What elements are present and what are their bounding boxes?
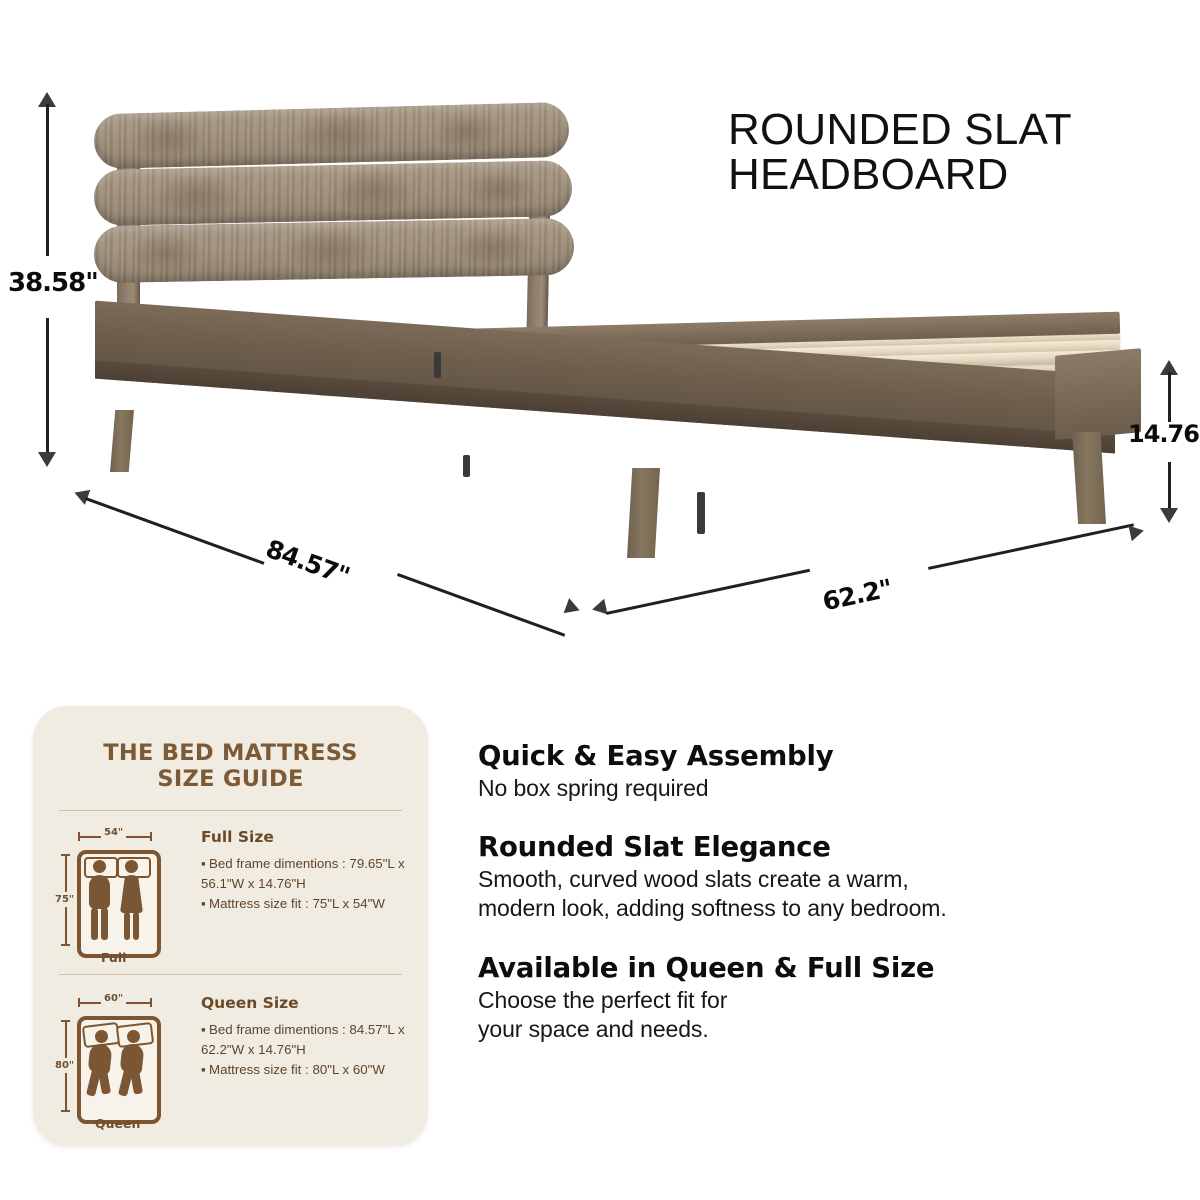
feature-body-line: No box spring required [478, 774, 1138, 803]
feature-body-line: modern look, adding softness to any bedr… [478, 894, 1138, 923]
queen-detail-line-1: Bed frame dimentions : 84.57"L x [209, 1022, 405, 1037]
feature-body: Smooth, curved wood slats create a warm,… [478, 865, 1138, 923]
headboard-slat-2 [93, 160, 572, 226]
feature-available-sizes: Available in Queen & Full Size Choose th… [478, 952, 1138, 1044]
size-guide-title-line-1: THE BED MATTRESS [33, 740, 428, 766]
headboard-slat-3 [94, 218, 575, 283]
full-detail-line-1: Bed frame dimentions : 79.65"L x [209, 856, 405, 871]
feature-body: Choose the perfect fit for your space an… [478, 986, 1138, 1044]
feature-rounded-slat-elegance: Rounded Slat Elegance Smooth, curved woo… [478, 831, 1138, 923]
bed-leg-head-left [110, 410, 134, 472]
size-guide-title: THE BED MATTRESS SIZE GUIDE [33, 740, 428, 792]
bed-leg-front-center [627, 468, 660, 558]
size-guide-divider-top [59, 810, 402, 811]
bed-support-leg-center [434, 352, 441, 378]
queen-height-label: 80" [55, 1058, 74, 1073]
full-detail-line-3: Mattress size fit : 75"L x 54"W [209, 896, 385, 911]
size-guide-row-full: 54" 75" [33, 818, 428, 968]
size-guide-row-queen: 60" 80" Queen Que [33, 984, 428, 1134]
queen-caption: Queen [95, 1116, 140, 1131]
mattress-size-guide-card: THE BED MATTRESS SIZE GUIDE 54" 75" [33, 706, 428, 1146]
headboard-slat-1 [93, 102, 569, 169]
full-size-name: Full Size [201, 828, 274, 846]
full-size-details: ▪Bed frame dimentions : 79.65"L x 56.1"W… [201, 854, 417, 914]
feature-quick-easy-assembly: Quick & Easy Assembly No box spring requ… [478, 740, 1138, 803]
feature-body-line: Smooth, curved wood slats create a warm, [478, 865, 1138, 894]
feature-title: Available in Queen & Full Size [478, 952, 1138, 984]
bed-support-leg-mid [463, 455, 470, 477]
full-caption: Full [101, 950, 126, 965]
bed-illustration [0, 0, 1200, 660]
infographic-canvas: ROUNDED SLAT HEADBOARD [0, 0, 1200, 1200]
queen-mattress-icon: 60" 80" Queen [51, 990, 171, 1130]
queen-detail-line-2: 62.2"W x 14.76"H [201, 1042, 306, 1057]
queen-size-name: Queen Size [201, 994, 299, 1012]
feature-body-line: Choose the perfect fit for [478, 986, 1138, 1015]
feature-list: Quick & Easy Assembly No box spring requ… [478, 740, 1138, 1066]
bed-support-leg-right [697, 492, 705, 534]
full-mattress-icon: 54" 75" [51, 824, 171, 964]
queen-width-label: 60" [101, 993, 126, 1004]
queen-detail-line-3: Mattress size fit : 80"L x 60"W [209, 1062, 385, 1077]
queen-size-details: ▪Bed frame dimentions : 84.57"L x 62.2"W… [201, 1020, 417, 1080]
feature-body: No box spring required [478, 774, 1138, 803]
full-width-label: 54" [101, 827, 126, 838]
dimension-height-label: 38.58" [8, 268, 98, 298]
size-guide-divider-middle [59, 974, 402, 975]
dimension-clearance-label: 14.76 [1128, 420, 1199, 448]
full-detail-line-2: 56.1"W x 14.76"H [201, 876, 306, 891]
size-guide-title-line-2: SIZE GUIDE [33, 766, 428, 792]
feature-title: Rounded Slat Elegance [478, 831, 1138, 863]
full-height-label: 75" [55, 892, 74, 907]
feature-title: Quick & Easy Assembly [478, 740, 1138, 772]
bed-leg-foot-right [1072, 432, 1106, 524]
feature-body-line: your space and needs. [478, 1015, 1138, 1044]
